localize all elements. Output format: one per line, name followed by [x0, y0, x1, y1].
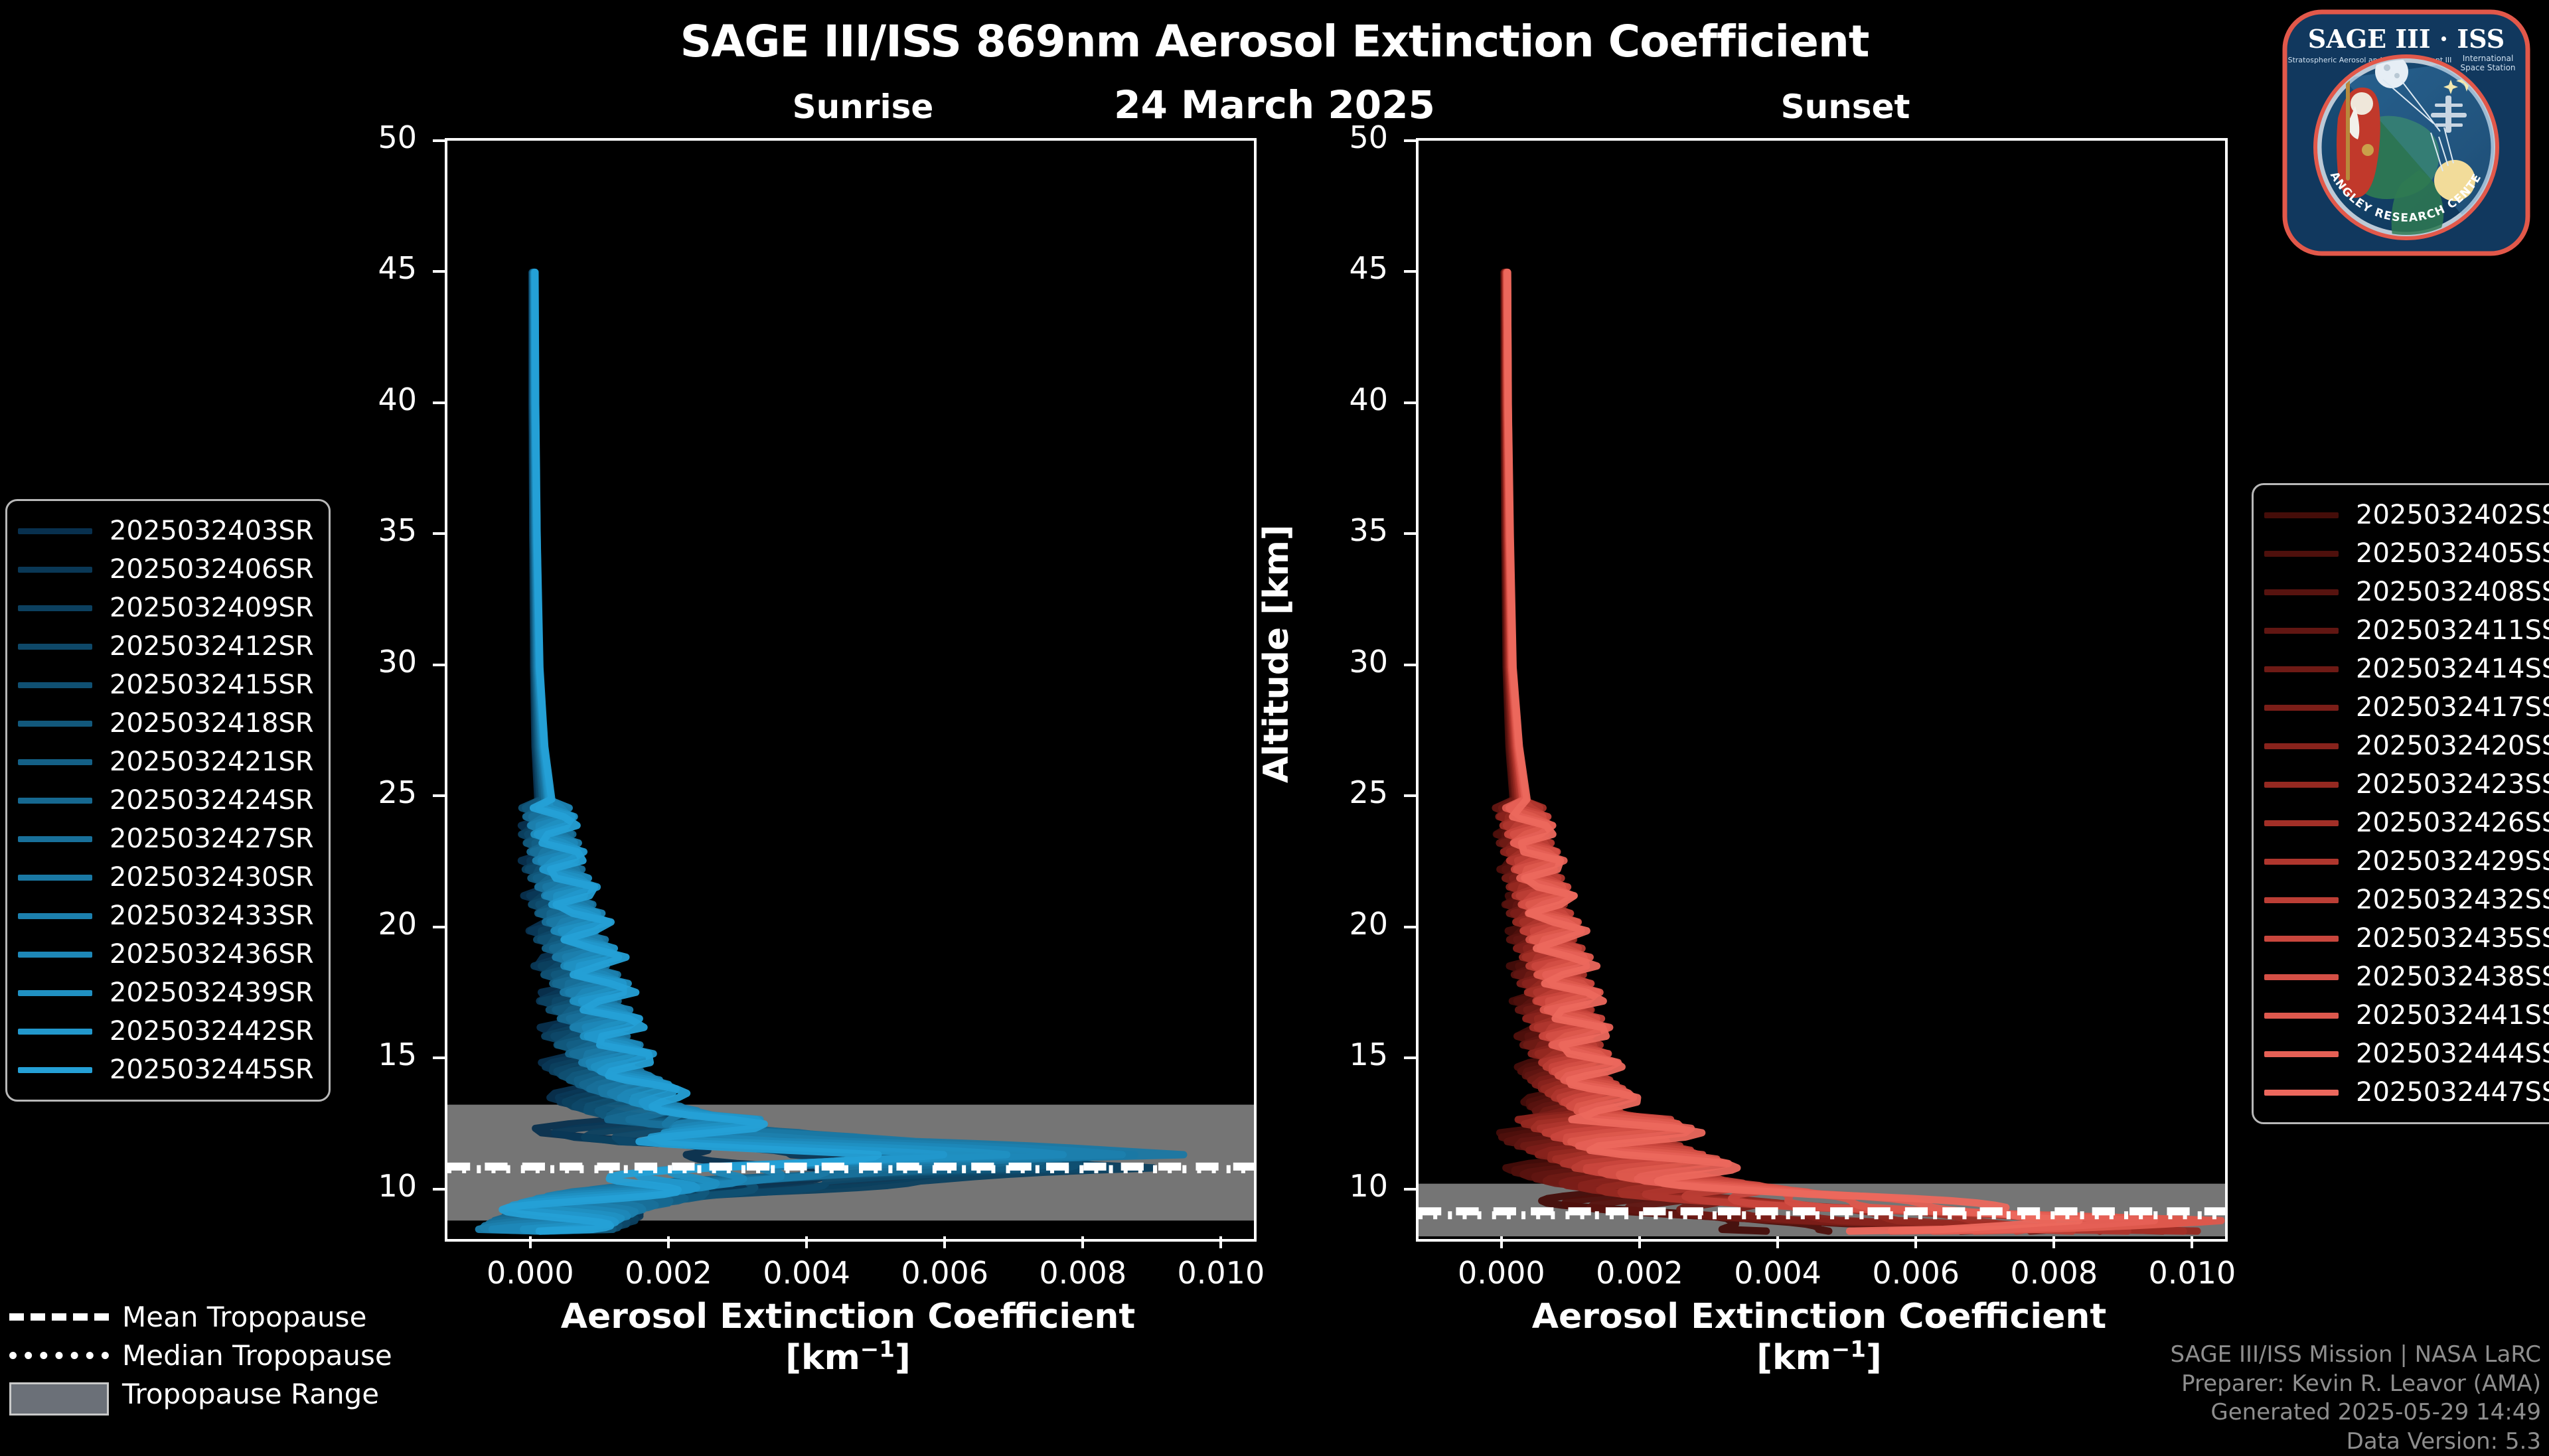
dotted-line-icon: [9, 1347, 109, 1364]
legend-label: 2025032426SS: [2356, 808, 2549, 838]
x-tick-label: 0.010: [2112, 1255, 2272, 1291]
x-tick-label: 0.008: [1974, 1255, 2133, 1291]
legend-label: 2025032402SS: [2356, 500, 2549, 530]
y-tick-label: 15: [1288, 1037, 1388, 1072]
y-tick-label: 20: [1288, 906, 1388, 942]
x-tick-label: 0.006: [865, 1255, 1024, 1291]
legend-label: 2025032438SS: [2356, 962, 2549, 992]
panel-subtitle-sunrise: Sunrise: [597, 88, 1128, 126]
y-tick-mark: [433, 139, 445, 142]
legend-item[interactable]: 2025032433SR: [18, 897, 314, 935]
y-tick-label: 50: [317, 119, 417, 155]
legend-color-swatch: [2264, 974, 2339, 980]
legend-label: 2025032429SS: [2356, 846, 2549, 877]
y-axis-label-sunset: Altitude [km]: [1257, 524, 1296, 783]
x-tick-label: 0.002: [589, 1255, 748, 1291]
x-tick-mark: [1219, 1236, 1222, 1248]
legend-item[interactable]: 2025032420SS: [2264, 727, 2549, 765]
x-axis-label-sunrise: Aerosol Extinction Coefficient [km−1]: [445, 1297, 1251, 1378]
x-tick-mark: [529, 1236, 532, 1248]
legend-color-swatch: [2264, 1013, 2339, 1019]
legend-item[interactable]: 2025032411SS: [2264, 611, 2549, 650]
x-tick-label: 0.010: [1141, 1255, 1300, 1291]
legend-label-mean: Mean Tropopause: [122, 1301, 366, 1333]
y-tick-label: 45: [1288, 250, 1388, 286]
x-tick-mark: [667, 1236, 670, 1248]
legend-label: 2025032424SR: [110, 785, 314, 816]
y-tick-label: 50: [1288, 119, 1388, 155]
x-axis-label-text: Aerosol Extinction Coefficient: [561, 1297, 1136, 1337]
legend-color-swatch: [18, 875, 92, 881]
legend-item[interactable]: 2025032402SS: [2264, 496, 2549, 534]
x-axis-label-sunset: Aerosol Extinction Coefficient [km−1]: [1416, 1297, 2222, 1378]
legend-item[interactable]: 2025032403SR: [18, 512, 314, 550]
x-tick-label: 0.004: [1698, 1255, 1857, 1291]
legend-label: 2025032435SS: [2356, 923, 2549, 954]
y-tick-mark: [433, 1056, 445, 1059]
legend-item[interactable]: 2025032429SS: [2264, 842, 2549, 881]
legend-color-swatch: [2264, 551, 2339, 557]
y-tick-mark: [1404, 532, 1416, 535]
x-tick-mark: [1500, 1236, 1503, 1248]
legend-item[interactable]: 2025032423SS: [2264, 765, 2549, 804]
x-tick-mark: [2191, 1236, 2193, 1248]
legend-label: 2025032417SS: [2356, 692, 2549, 723]
x-axis-units: [km−1]: [1756, 1338, 1881, 1378]
credit-line: Preparer: Kevin R. Leavor (AMA): [2170, 1370, 2541, 1399]
y-tick-label: 30: [1288, 644, 1388, 680]
legend-color-swatch: [2264, 705, 2339, 711]
x-tick-mark: [943, 1236, 946, 1248]
x-tick-mark: [1638, 1236, 1641, 1248]
legend-label: 2025032430SR: [110, 862, 314, 893]
legend-item-tropopause-range: Tropopause Range: [9, 1374, 392, 1413]
plot-canvas-sunset: [1419, 141, 2225, 1239]
y-tick-mark: [433, 664, 445, 666]
legend-label: 2025032447SS: [2356, 1077, 2549, 1108]
legend-label: 2025032439SR: [110, 978, 314, 1008]
legend-item[interactable]: 2025032409SR: [18, 589, 314, 627]
y-tick-mark: [1404, 1188, 1416, 1191]
y-tick-mark: [1404, 401, 1416, 404]
legend-item[interactable]: 2025032439SR: [18, 974, 314, 1012]
legend-color-swatch: [18, 1029, 92, 1035]
legend-color-swatch: [2264, 1051, 2339, 1057]
x-tick-label: 0.000: [1422, 1255, 1581, 1291]
legend-tropopause: Mean Tropopause Median Tropopause Tropop…: [9, 1297, 392, 1413]
legend-sunrise[interactable]: 2025032403SR2025032406SR2025032409SR2025…: [5, 499, 331, 1102]
legend-label: 2025032409SR: [110, 593, 314, 623]
legend-item[interactable]: 2025032415SR: [18, 666, 314, 704]
legend-label: 2025032427SR: [110, 824, 314, 854]
y-tick-label: 25: [1288, 774, 1388, 810]
y-tick-mark: [433, 270, 445, 273]
y-tick-mark: [1404, 270, 1416, 273]
x-axis-units: [km−1]: [785, 1338, 910, 1378]
y-tick-label: 10: [1288, 1168, 1388, 1204]
y-tick-label: 10: [317, 1168, 417, 1204]
y-tick-label: 25: [317, 774, 417, 810]
legend-color-swatch: [18, 836, 92, 842]
plot-area-sunset: [1416, 138, 2228, 1242]
y-tick-label: 45: [317, 250, 417, 286]
plot-canvas-sunrise: [447, 141, 1254, 1239]
legend-color-swatch: [2264, 589, 2339, 595]
credit-line: Generated 2025-05-29 14:49: [2170, 1398, 2541, 1427]
legend-item[interactable]: 2025032406SR: [18, 550, 314, 589]
legend-item[interactable]: 2025032435SS: [2264, 919, 2549, 958]
y-tick-label: 20: [317, 906, 417, 942]
x-tick-mark: [805, 1236, 808, 1248]
profile-line: [502, 272, 878, 1231]
legend-item[interactable]: 2025032447SS: [2264, 1073, 2549, 1112]
credit-line: SAGE III/ISS Mission | NASA LaRC: [2170, 1341, 2541, 1370]
x-tick-label: 0.002: [1560, 1255, 1719, 1291]
y-tick-mark: [1404, 139, 1416, 142]
profile-line: [495, 272, 1087, 1231]
legend-label: 2025032444SS: [2356, 1039, 2549, 1069]
legend-item[interactable]: 2025032445SR: [18, 1051, 314, 1089]
plot-area-sunrise: [445, 138, 1257, 1242]
legend-color-swatch: [2264, 666, 2339, 672]
legend-item-mean-tropopause: Mean Tropopause: [9, 1297, 392, 1336]
y-tick-mark: [433, 926, 445, 928]
legend-label: 2025032442SR: [110, 1016, 314, 1047]
legend-color-swatch: [2264, 782, 2339, 788]
legend-color-swatch: [18, 759, 92, 765]
legend-color-swatch: [2264, 743, 2339, 749]
legend-color-swatch: [18, 952, 92, 958]
legend-item[interactable]: 2025032430SR: [18, 858, 314, 897]
legend-item[interactable]: 2025032414SS: [2264, 650, 2549, 688]
legend-item[interactable]: 2025032442SR: [18, 1012, 314, 1051]
svg-text:International: International: [2463, 54, 2514, 63]
x-tick-label: 0.004: [727, 1255, 886, 1291]
credit-line: Data Version: 5.3: [2170, 1427, 2541, 1456]
y-tick-label: 30: [317, 644, 417, 680]
y-tick-label: 40: [1288, 382, 1388, 417]
legend-label: 2025032436SR: [110, 939, 314, 970]
legend-item[interactable]: 2025032418SR: [18, 704, 314, 743]
legend-label: 2025032441SS: [2356, 1000, 2549, 1031]
legend-color-swatch: [18, 682, 92, 688]
y-tick-mark: [1404, 1056, 1416, 1059]
legend-item[interactable]: 2025032438SS: [2264, 958, 2549, 996]
y-tick-label: 40: [317, 382, 417, 417]
legend-item[interactable]: 2025032412SR: [18, 627, 314, 666]
legend-color-swatch: [2264, 820, 2339, 826]
legend-item-median-tropopause: Median Tropopause: [9, 1336, 392, 1374]
legend-color-swatch: [2264, 512, 2339, 518]
legend-color-swatch: [2264, 897, 2339, 903]
x-tick-mark: [1081, 1236, 1084, 1248]
legend-label-median: Median Tropopause: [122, 1339, 392, 1372]
x-tick-mark: [2052, 1236, 2055, 1248]
legend-item[interactable]: 2025032441SS: [2264, 996, 2549, 1035]
y-tick-label: 15: [317, 1037, 417, 1072]
legend-color-swatch: [2264, 628, 2339, 634]
y-tick-mark: [433, 794, 445, 797]
legend-item[interactable]: 2025032426SS: [2264, 804, 2549, 842]
x-tick-label: 0.006: [1836, 1255, 1995, 1291]
x-tick-label: 0.000: [451, 1255, 610, 1291]
legend-label: 2025032406SR: [110, 554, 314, 585]
legend-label: 2025032445SR: [110, 1055, 314, 1085]
legend-color-swatch: [18, 990, 92, 996]
x-tick-mark: [1776, 1236, 1779, 1248]
panel-subtitle-sunset: Sunset: [1580, 88, 2111, 126]
x-tick-label: 0.008: [1003, 1255, 1162, 1291]
legend-color-swatch: [2264, 1090, 2339, 1096]
legend-color-swatch: [18, 605, 92, 611]
legend-item[interactable]: 2025032436SR: [18, 935, 314, 974]
legend-item[interactable]: 2025032424SR: [18, 781, 314, 820]
legend-label: 2025032408SS: [2356, 577, 2549, 607]
y-tick-label: 35: [317, 512, 417, 548]
y-tick-mark: [433, 532, 445, 535]
y-tick-mark: [1404, 794, 1416, 797]
page-title: SAGE III/ISS 869nm Aerosol Extinction Co…: [0, 16, 2549, 67]
x-tick-mark: [1914, 1236, 1917, 1248]
legend-label: 2025032414SS: [2356, 654, 2549, 684]
legend-label: 2025032415SR: [110, 670, 314, 700]
legend-item[interactable]: 2025032405SS: [2264, 534, 2549, 573]
y-tick-mark: [433, 401, 445, 404]
legend-color-swatch: [2264, 859, 2339, 865]
legend-label: 2025032412SR: [110, 631, 314, 662]
x-axis-label-text: Aerosol Extinction Coefficient: [1532, 1297, 2107, 1337]
legend-label: 2025032418SR: [110, 708, 314, 739]
svg-text:SAGE III · ISS: SAGE III · ISS: [2308, 24, 2505, 54]
band-swatch-icon: [9, 1385, 109, 1402]
legend-color-swatch: [18, 528, 92, 534]
y-tick-mark: [1404, 664, 1416, 666]
legend-color-swatch: [18, 913, 92, 919]
legend-label-range: Tropopause Range: [122, 1378, 379, 1410]
svg-text:Space Station: Space Station: [2460, 63, 2515, 72]
legend-label: 2025032420SS: [2356, 731, 2549, 761]
legend-label: 2025032432SS: [2356, 885, 2549, 915]
legend-item[interactable]: 2025032408SS: [2264, 573, 2549, 611]
dashed-line-icon: [9, 1308, 109, 1325]
legend-color-swatch: [18, 644, 92, 650]
legend-label: 2025032421SR: [110, 747, 314, 777]
legend-item[interactable]: 2025032421SR: [18, 743, 314, 781]
legend-label: 2025032405SS: [2356, 538, 2549, 569]
y-tick-mark: [1404, 926, 1416, 928]
legend-color-swatch: [18, 567, 92, 573]
legend-label: 2025032423SS: [2356, 769, 2549, 800]
legend-label: 2025032411SS: [2356, 615, 2549, 646]
y-tick-mark: [433, 1188, 445, 1191]
y-tick-label: 35: [1288, 512, 1388, 548]
legend-color-swatch: [18, 721, 92, 727]
legend-item[interactable]: 2025032444SS: [2264, 1035, 2549, 1073]
credits-block: SAGE III/ISS Mission | NASA LaRC Prepare…: [2170, 1341, 2541, 1456]
legend-label: 2025032433SR: [110, 901, 314, 931]
legend-label: 2025032403SR: [110, 516, 314, 546]
legend-item[interactable]: 2025032427SR: [18, 820, 314, 858]
sage-iii-iss-mission-patch-icon: SAGE III · ISS Stratospheric Aerosol and…: [2277, 7, 2536, 259]
legend-color-swatch: [18, 798, 92, 804]
legend-color-swatch: [2264, 936, 2339, 942]
legend-item[interactable]: 2025032417SS: [2264, 688, 2549, 727]
legend-color-swatch: [18, 1067, 92, 1073]
legend-sunset[interactable]: 2025032402SS2025032405SS2025032408SS2025…: [2252, 483, 2549, 1124]
profile-line: [1507, 272, 2079, 1231]
legend-item[interactable]: 2025032432SS: [2264, 881, 2549, 919]
